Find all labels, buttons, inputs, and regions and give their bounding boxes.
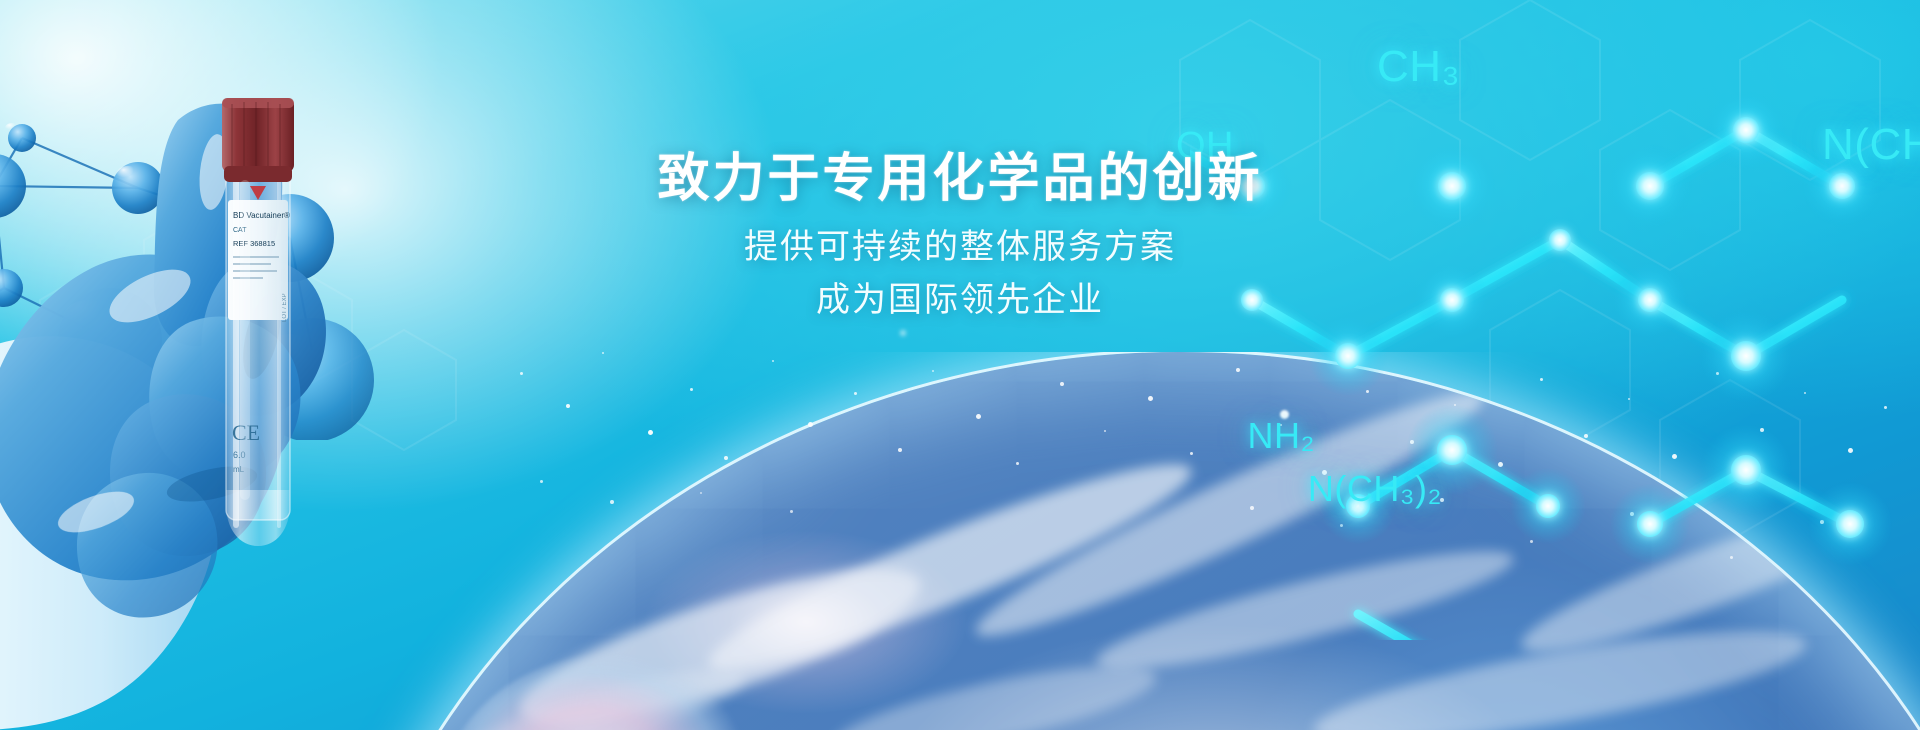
vial-ref-text: REF 368815 bbox=[233, 239, 275, 248]
chemical-structure-diagram-icon bbox=[1190, 0, 1920, 640]
chem-label-nch3-2: N(CH₃)₂ bbox=[1308, 468, 1442, 510]
gloved-hand-holding-vial: BD Vacutainer® CAT REF 368815 LOT / EXP … bbox=[0, 60, 470, 730]
chem-label-nh2: NH₂ bbox=[1248, 415, 1315, 457]
chem-label-ch3: CH₃ bbox=[1377, 42, 1460, 92]
vial-side-text: LOT / EXP bbox=[282, 293, 288, 322]
chem-label-oh: OH bbox=[1176, 125, 1234, 168]
chem-label-nch: N(CH bbox=[1822, 120, 1920, 170]
hero-banner: BD Vacutainer® CAT REF 368815 LOT / EXP … bbox=[0, 0, 1920, 730]
